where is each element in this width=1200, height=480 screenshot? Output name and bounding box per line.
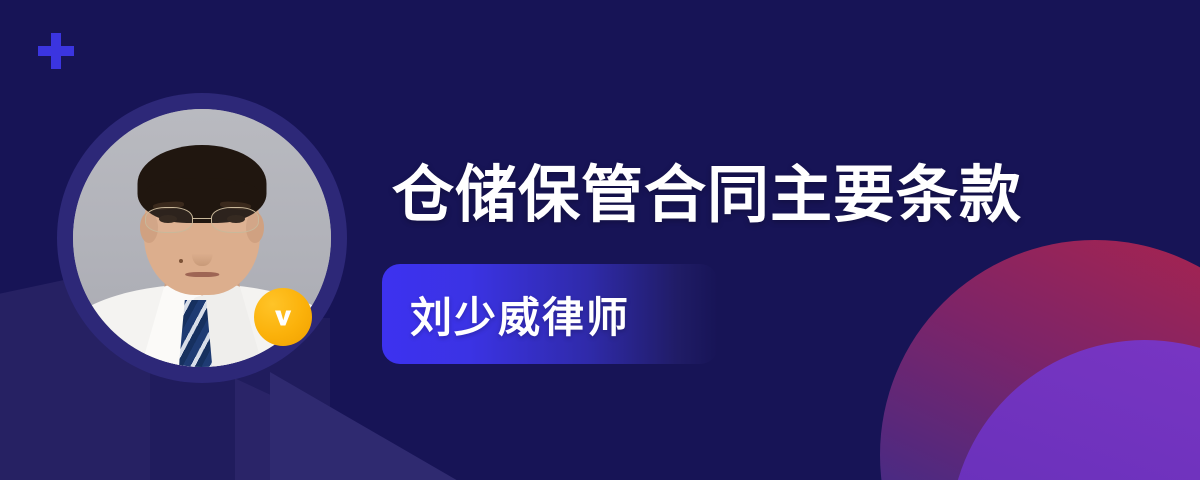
lawyer-name-label: 刘少威律师 [382,284,630,345]
portrait-mole [179,259,183,263]
lawyer-name-badge[interactable]: 刘少威律师 [382,264,718,364]
decorative-gradient-blob-outer [880,240,1200,480]
plus-icon [38,33,74,69]
decorative-triangle-two [270,372,460,480]
decorative-gradient-blob-inner [950,340,1200,480]
portrait-nose [192,238,213,266]
portrait-mouth [185,272,219,278]
avatar[interactable] [57,93,347,383]
eyeglass-lens-right [211,207,259,233]
decorative-blob-mask [890,410,1200,480]
lawyer-topic-banner: 仓储保管合同主要条款 刘少威律师 [0,0,1200,480]
plus-icon-bar-vertical [51,33,61,69]
page-title: 仓储保管合同主要条款 [392,160,1022,231]
eyeglass-bridge [193,218,211,220]
portrait-eyeglasses [145,207,259,233]
eyeglass-lens-left [145,207,193,233]
verified-check-icon [254,288,312,346]
